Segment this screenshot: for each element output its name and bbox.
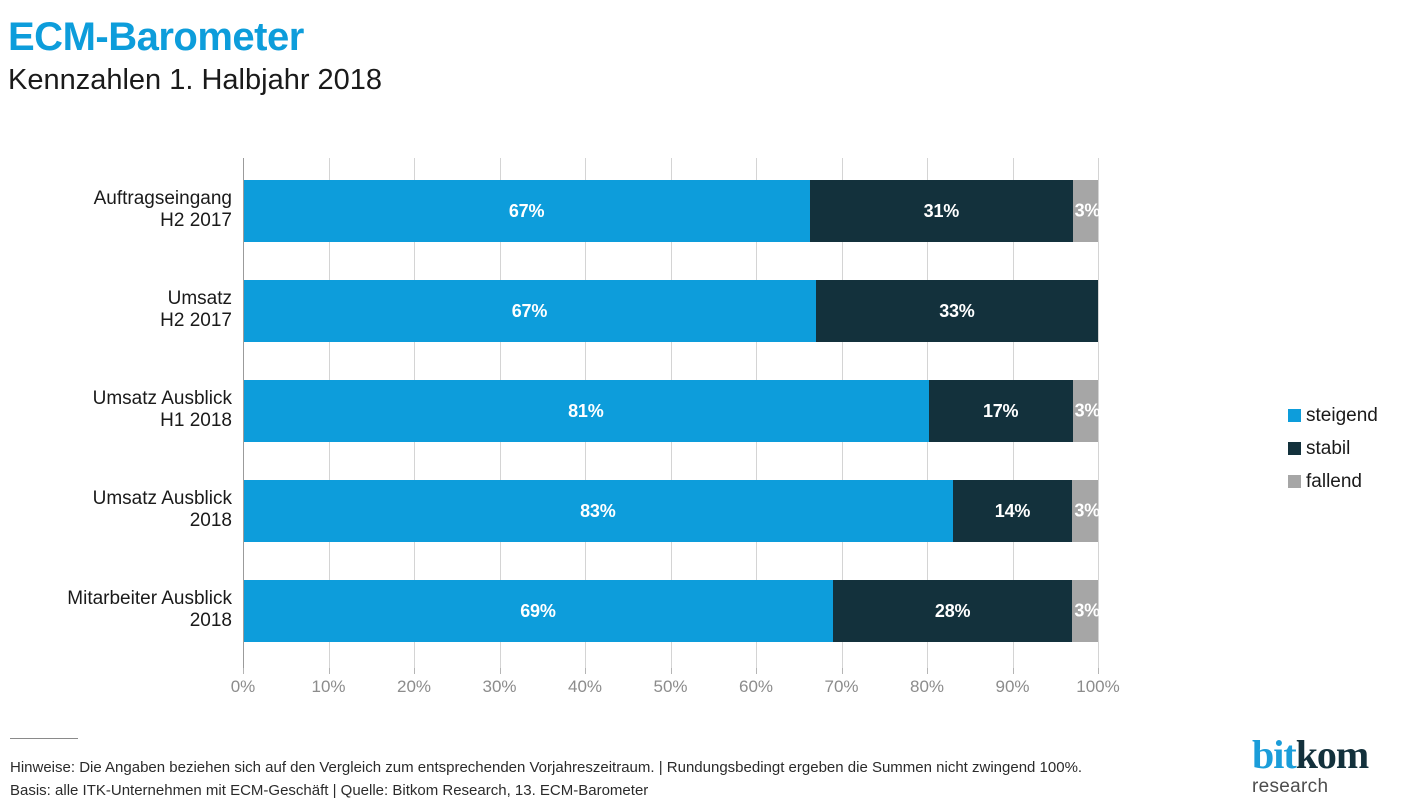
bar-row[interactable]: 83%14%3% bbox=[243, 480, 1098, 542]
x-tick-mark bbox=[927, 668, 928, 674]
bar-row[interactable]: 81%17%3% bbox=[243, 380, 1098, 442]
category-label-line: H1 2018 bbox=[0, 410, 232, 432]
x-tick-mark bbox=[842, 668, 843, 674]
bar-segment-value-label: 3% bbox=[1075, 401, 1101, 422]
bar-segment-fallend[interactable]: 3% bbox=[1073, 380, 1098, 442]
footer-divider bbox=[10, 738, 78, 739]
bar-segment-fallend[interactable]: 3% bbox=[1072, 580, 1098, 642]
footnotes: Hinweise: Die Angaben beziehen sich auf … bbox=[10, 756, 1250, 803]
x-tick-mark bbox=[1098, 668, 1099, 674]
legend-item-stabil[interactable]: stabil bbox=[1288, 432, 1406, 465]
legend-swatch-icon bbox=[1288, 475, 1301, 488]
x-tick-label: 20% bbox=[397, 677, 431, 697]
x-tick-label: 70% bbox=[824, 677, 858, 697]
stacked-bar-chart: AuftragseingangH2 2017UmsatzH2 2017Umsat… bbox=[0, 150, 1406, 695]
category-label-line: Auftragseingang bbox=[0, 188, 232, 210]
x-tick-label: 0% bbox=[231, 677, 256, 697]
bar-segment-stabil[interactable]: 17% bbox=[929, 380, 1073, 442]
category-axis-labels: AuftragseingangH2 2017UmsatzH2 2017Umsat… bbox=[0, 158, 232, 668]
category-label-line: 2018 bbox=[0, 610, 232, 632]
bar-segment-value-label: 3% bbox=[1074, 501, 1100, 522]
bar-segment-value-label: 17% bbox=[983, 401, 1018, 422]
x-tick-label: 50% bbox=[653, 677, 687, 697]
logo-bit-text: bit bbox=[1252, 732, 1296, 777]
x-tick-mark bbox=[329, 668, 330, 674]
category-label: Umsatz Ausblick2018 bbox=[0, 488, 232, 533]
category-label-line: Umsatz Ausblick bbox=[0, 488, 232, 510]
x-tick-mark bbox=[1013, 668, 1014, 674]
x-tick-mark bbox=[671, 668, 672, 674]
page-header: ECM-Barometer Kennzahlen 1. Halbjahr 201… bbox=[8, 16, 1008, 97]
x-tick-mark bbox=[585, 668, 586, 674]
bar-segment-steigend[interactable]: 67% bbox=[243, 180, 810, 242]
x-tick-mark bbox=[414, 668, 415, 674]
legend-swatch-icon bbox=[1288, 442, 1301, 455]
plot-area: 67%31%3%67%33%81%17%3%83%14%3%69%28%3% bbox=[243, 158, 1098, 668]
bar-segment-steigend[interactable]: 83% bbox=[243, 480, 953, 542]
bar-segment-value-label: 67% bbox=[512, 301, 547, 322]
bar-row[interactable]: 67%33% bbox=[243, 280, 1098, 342]
x-tick-label: 80% bbox=[910, 677, 944, 697]
bar-segment-stabil[interactable]: 14% bbox=[953, 480, 1073, 542]
bar-segment-value-label: 3% bbox=[1075, 201, 1101, 222]
bar-segment-value-label: 69% bbox=[520, 601, 555, 622]
category-label: UmsatzH2 2017 bbox=[0, 288, 232, 333]
footnote-line-2: Basis: alle ITK-Unternehmen mit ECM-Gesc… bbox=[10, 779, 1250, 802]
category-label: AuftragseingangH2 2017 bbox=[0, 188, 232, 233]
bar-row[interactable]: 69%28%3% bbox=[243, 580, 1098, 642]
page-subtitle: Kennzahlen 1. Halbjahr 2018 bbox=[8, 64, 1008, 97]
x-tick-label: 40% bbox=[568, 677, 602, 697]
page-title: ECM-Barometer bbox=[8, 16, 1008, 58]
legend-item-fallend[interactable]: fallend bbox=[1288, 465, 1406, 498]
bar-segment-steigend[interactable]: 81% bbox=[243, 380, 929, 442]
category-label-line: H2 2017 bbox=[0, 210, 232, 232]
x-tick-label: 60% bbox=[739, 677, 773, 697]
chart-legend: steigendstabilfallend bbox=[1288, 399, 1406, 498]
logo-kom-text: kom bbox=[1296, 732, 1369, 777]
bar-segment-stabil[interactable]: 33% bbox=[816, 280, 1098, 342]
bar-series-container: 67%31%3%67%33%81%17%3%83%14%3%69%28%3% bbox=[243, 158, 1098, 668]
category-label-line: Umsatz Ausblick bbox=[0, 388, 232, 410]
bar-row[interactable]: 67%31%3% bbox=[243, 180, 1098, 242]
category-label: Mitarbeiter Ausblick2018 bbox=[0, 588, 232, 633]
x-tick-mark bbox=[500, 668, 501, 674]
bar-segment-value-label: 83% bbox=[580, 501, 615, 522]
bar-segment-value-label: 28% bbox=[935, 601, 970, 622]
category-label-line: Umsatz bbox=[0, 288, 232, 310]
bar-segment-value-label: 67% bbox=[509, 201, 544, 222]
bar-segment-value-label: 3% bbox=[1074, 601, 1100, 622]
x-tick-label: 10% bbox=[311, 677, 345, 697]
footnote-line-1: Hinweise: Die Angaben beziehen sich auf … bbox=[10, 756, 1250, 779]
x-tick-label: 90% bbox=[995, 677, 1029, 697]
x-tick-label: 100% bbox=[1076, 677, 1119, 697]
legend-item-steigend[interactable]: steigend bbox=[1288, 399, 1406, 432]
bar-segment-value-label: 31% bbox=[924, 201, 959, 222]
x-tick-mark bbox=[756, 668, 757, 674]
bar-segment-steigend[interactable]: 67% bbox=[243, 280, 816, 342]
logo-wordmark: bitkom bbox=[1252, 735, 1402, 775]
x-tick-label: 30% bbox=[482, 677, 516, 697]
x-axis: 0%10%20%30%40%50%60%70%80%90%100% bbox=[243, 668, 1098, 708]
bar-segment-stabil[interactable]: 28% bbox=[833, 580, 1072, 642]
logo-subtitle: research bbox=[1252, 777, 1402, 796]
bar-segment-stabil[interactable]: 31% bbox=[810, 180, 1072, 242]
legend-swatch-icon bbox=[1288, 409, 1301, 422]
legend-label: stabil bbox=[1306, 439, 1350, 458]
bitkom-research-logo: bitkom research bbox=[1252, 735, 1402, 805]
bar-segment-value-label: 33% bbox=[939, 301, 974, 322]
x-tick-mark bbox=[243, 668, 244, 674]
bar-segment-fallend[interactable]: 3% bbox=[1073, 180, 1098, 242]
bar-segment-fallend[interactable]: 3% bbox=[1072, 480, 1098, 542]
category-label-line: 2018 bbox=[0, 510, 232, 532]
category-label-line: H2 2017 bbox=[0, 310, 232, 332]
bar-segment-value-label: 14% bbox=[995, 501, 1030, 522]
bar-segment-steigend[interactable]: 69% bbox=[243, 580, 833, 642]
category-label-line: Mitarbeiter Ausblick bbox=[0, 588, 232, 610]
legend-label: fallend bbox=[1306, 472, 1362, 491]
bar-segment-value-label: 81% bbox=[568, 401, 603, 422]
legend-label: steigend bbox=[1306, 406, 1378, 425]
category-label: Umsatz AusblickH1 2018 bbox=[0, 388, 232, 433]
